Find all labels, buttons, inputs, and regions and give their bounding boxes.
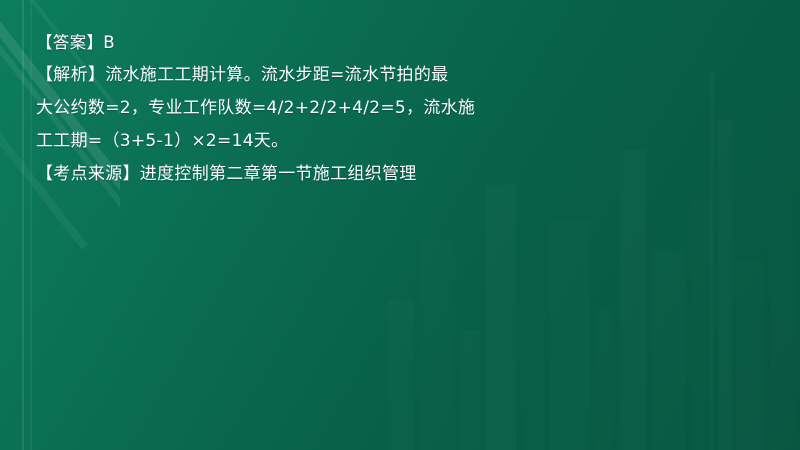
answer-explanation-block: 【答案】B 【解析】流水施工工期计算。流水步距=流水节拍的最 大公约数=2，专业… xyxy=(36,26,696,191)
vertical-accent-line-1 xyxy=(22,0,24,450)
source-line: 【考点来源】进度控制第二章第一节施工组织管理 xyxy=(36,158,696,191)
explanation-line-3: 工工期=（3+5-1）×2=14天。 xyxy=(36,125,696,158)
vertical-accent-line-2 xyxy=(30,0,32,450)
slide-canvas: 【答案】B 【解析】流水施工工期计算。流水步距=流水节拍的最 大公约数=2，专业… xyxy=(0,0,800,450)
answer-line: 【答案】B xyxy=(36,26,696,59)
explanation-line-1: 【解析】流水施工工期计算。流水步距=流水节拍的最 xyxy=(36,59,696,92)
explanation-line-2: 大公约数=2，专业工作队数=4/2+2/2+4/2=5，流水施 xyxy=(36,92,696,125)
